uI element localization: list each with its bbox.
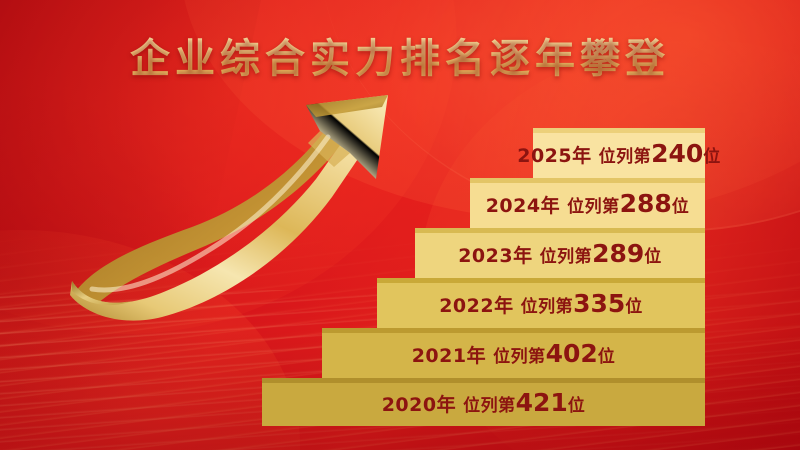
- step-2021-year: 2021年: [412, 345, 486, 367]
- step-2024-label: 2024年位列第288位: [486, 189, 690, 218]
- step-2024-top-edge: [470, 178, 705, 183]
- step-2025-label: 2025年位列第240位: [517, 139, 721, 168]
- step-2023-prefix: 位列第: [540, 247, 593, 267]
- step-2020-rank: 421: [516, 388, 568, 417]
- step-2025-rank: 240: [651, 139, 703, 168]
- step-2023-top-edge: [415, 228, 705, 233]
- step-2024-rank: 288: [620, 189, 672, 218]
- step-2023-label: 2023年位列第289位: [458, 239, 662, 268]
- step-2024[interactable]: 2024年位列第288位: [470, 178, 705, 228]
- step-2021-top-edge: [322, 328, 705, 333]
- step-2022[interactable]: 2022年位列第335位: [377, 278, 705, 328]
- step-2020-year: 2020年: [382, 394, 456, 416]
- step-2025-prefix: 位列第: [599, 147, 652, 167]
- step-2020-label: 2020年位列第421位: [382, 388, 586, 417]
- step-2025-year: 2025年: [517, 145, 591, 167]
- step-2020-suffix: 位: [568, 396, 586, 416]
- ranking-staircase: 2020年位列第421位 2021年位列第402位 2022年位列第335位 2…: [0, 0, 800, 450]
- step-2021-prefix: 位列第: [493, 347, 546, 367]
- step-2022-label: 2022年位列第335位: [439, 289, 643, 318]
- step-2022-rank: 335: [573, 289, 625, 318]
- step-2024-suffix: 位: [672, 197, 690, 217]
- step-2025-top-edge: [533, 128, 705, 133]
- step-2020-top-edge: [262, 378, 705, 383]
- step-2021-label: 2021年位列第402位: [412, 339, 616, 368]
- step-2022-prefix: 位列第: [521, 297, 574, 317]
- step-2024-prefix: 位列第: [567, 197, 620, 217]
- step-2022-suffix: 位: [625, 297, 643, 317]
- step-2025[interactable]: 2025年位列第240位: [533, 128, 705, 178]
- step-2022-top-edge: [377, 278, 705, 283]
- step-2020[interactable]: 2020年位列第421位: [262, 378, 705, 426]
- step-2023-year: 2023年: [458, 245, 532, 267]
- step-2021-suffix: 位: [598, 347, 616, 367]
- step-2023[interactable]: 2023年位列第289位: [415, 228, 705, 278]
- step-2022-year: 2022年: [439, 295, 513, 317]
- step-2024-year: 2024年: [486, 195, 560, 217]
- step-2025-suffix: 位: [703, 147, 721, 167]
- step-2020-prefix: 位列第: [463, 396, 516, 416]
- poster-canvas: 企业综合实力排名逐年攀登: [0, 0, 800, 450]
- step-2021[interactable]: 2021年位列第402位: [322, 328, 705, 378]
- step-2023-suffix: 位: [644, 247, 662, 267]
- step-2021-rank: 402: [546, 339, 598, 368]
- step-2023-rank: 289: [592, 239, 644, 268]
